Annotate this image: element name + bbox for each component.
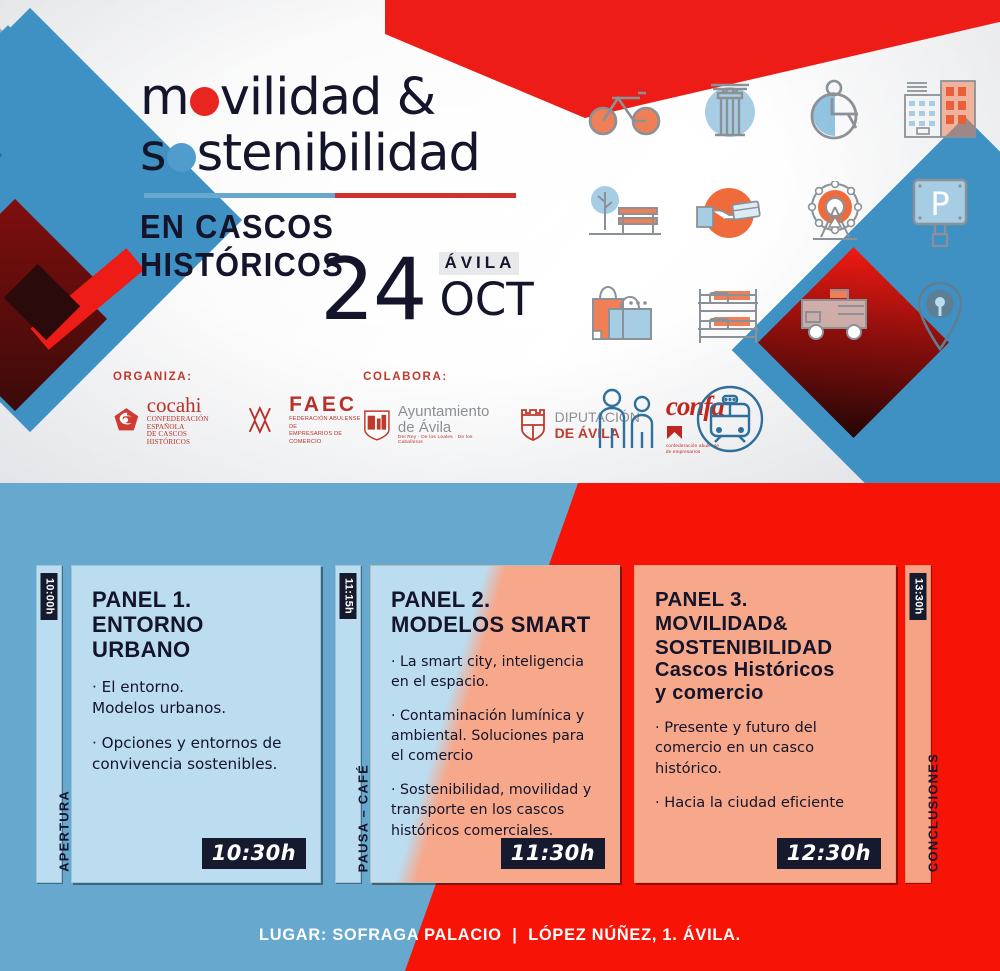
faec-name: FAEC — [289, 394, 363, 416]
panel-3-end-time: 12:30h — [777, 838, 881, 869]
panel-1[interactable]: PANEL 1. ENTORNO URBANO · El entorno. Mo… — [71, 565, 321, 883]
date-right-block: ÁVILA OCT — [439, 252, 533, 322]
wheelchair-accessibility-icon — [804, 78, 866, 142]
bicycle-icon — [588, 79, 662, 141]
panel-3-bullet-2: · Hacia la ciudad eficiente — [655, 793, 875, 814]
panel-1-title-line-2: ENTORNO — [92, 613, 300, 638]
rule-red-segment — [335, 193, 516, 198]
logo-faec: FAEC FEDERACIÓN ABULENSE DE EMPRESARIOS … — [248, 394, 363, 446]
panel-3-title-line-5: y comercio — [655, 682, 875, 705]
panel-2-bullet-2: · Contaminación lumínica y ambiental. So… — [391, 706, 599, 767]
faec-text: FAEC FEDERACIÓN ABULENSE DE EMPRESARIOS … — [289, 394, 363, 446]
date-city: ÁVILA — [439, 252, 519, 275]
panel-1-bullet-2: · Opciones y entornos de convivencia sos… — [92, 733, 300, 776]
location-pin-icon — [913, 280, 967, 352]
delivery-van-icon — [796, 286, 874, 346]
slot-apertura-time: 10:00h — [41, 573, 58, 620]
poster-footer: LUGAR: SOFRAGA PALACIO | LÓPEZ NÚÑEZ, 1.… — [0, 899, 1000, 971]
panel-3-title-line-3: SOSTENIBILIDAD — [655, 636, 875, 660]
cocahi-text: cocahi CONFEDERACIÓN ESPAÑOLA DE CASCOS … — [147, 394, 222, 446]
panel-3-title: PANEL 3. MOVILIDAD& SOSTENIBILIDAD Casco… — [655, 588, 875, 706]
title-line-1: mvilidad & — [140, 72, 540, 123]
blue-dot-o-icon — [167, 143, 196, 172]
logo-cocahi: cocahi CONFEDERACIÓN ESPAÑOLA DE CASCOS … — [113, 394, 222, 446]
ayuntamiento-sub1: Del Rey · De los Leales · De los Caballe… — [398, 435, 492, 445]
cocahi-sub2: DE CASCOS HISTÓRICOS — [147, 431, 222, 446]
panel-3-title-line-2: MOVILIDAD& — [655, 612, 875, 636]
buildings-icon — [901, 79, 979, 141]
faec-mark-icon — [248, 404, 282, 436]
poster-root: mvilidad & sstenibilidad EN CASCOS HISTÓ… — [0, 0, 1000, 971]
panel-2-title-line-2: MODELOS SMART — [391, 613, 599, 638]
panel-2-bullet-1: · La smart city, inteligencia en el espa… — [391, 652, 599, 693]
ayuntamiento-shield-icon — [363, 408, 391, 442]
date-day: 24 — [320, 255, 425, 326]
red-dot-o-icon — [190, 87, 219, 116]
cocahi-mark-icon — [113, 403, 140, 437]
shopping-bags-icon — [587, 283, 663, 349]
slot-conclusiones: 13:30h CONCLUSIONES — [905, 565, 931, 883]
ayuntamiento-text: Ayuntamiento de Ávila Del Rey · De los L… — [398, 404, 492, 446]
panel-1-title-line-3: URBANO — [92, 638, 300, 663]
panel-1-end-time: 10:30h — [202, 838, 306, 869]
panel-1-title: PANEL 1. ENTORNO URBANO — [92, 588, 300, 663]
panel-1-bullets: · El entorno. Modelos urbanos. · Opcione… — [92, 677, 300, 776]
diputacion-shield-icon — [518, 407, 548, 443]
title-line-2: sstenibilidad — [140, 128, 540, 179]
rule-blue-segment — [144, 193, 335, 198]
slot-apertura: 10:00h APERTURA — [36, 565, 62, 883]
panel-2-title: PANEL 2. MODELOS SMART — [391, 588, 599, 638]
column-monument-icon — [697, 77, 763, 143]
faec-sub2: EMPRESARIOS DE COMERCIO — [289, 431, 363, 446]
title-line-2-post: stenibilidad — [197, 124, 480, 183]
slot-pausa-time: 11:15h — [340, 573, 357, 619]
storage-shelf-icon — [694, 285, 766, 347]
title-line-1-pre: m — [140, 68, 189, 127]
title-divider-rule — [144, 193, 516, 198]
organiza-label: ORGANIZA: — [113, 371, 363, 383]
cocahi-sub1: CONFEDERACIÓN ESPAÑOLA — [147, 416, 222, 431]
poster-header: mvilidad & sstenibilidad EN CASCOS HISTÓ… — [0, 0, 1000, 483]
panel-3[interactable]: PANEL 3. MOVILIDAD& SOSTENIBILIDAD Casco… — [634, 565, 896, 883]
title-line-1-post: vilidad & — [220, 68, 436, 127]
people-group-icon — [586, 386, 664, 452]
organiza-column: ORGANIZA: cocahi CONFEDERACIÓN ESPAÑOLA — [113, 371, 363, 455]
hand-card-payment-icon — [695, 181, 765, 245]
logo-ayuntamiento: Ayuntamiento de Ávila Del Rey · De los L… — [363, 404, 491, 446]
svg-text:P: P — [930, 185, 949, 223]
panel-3-bullet-1: · Presente y futuro del comercio en un c… — [655, 718, 875, 780]
event-date: 24 ÁVILA OCT — [320, 252, 534, 326]
panel-1-bullet-1: · El entorno. Modelos urbanos. — [92, 677, 300, 720]
slot-conclusiones-time-badge: 13:30h — [910, 573, 927, 620]
poster-lower: 10:00h APERTURA PANEL 1. ENTORNO URBANO … — [0, 483, 1000, 971]
panel-3-title-line-4: Cascos Históricos — [655, 659, 875, 682]
panel-2[interactable]: PANEL 2. MODELOS SMART · La smart city, … — [370, 565, 620, 883]
icon-grid: P — [572, 58, 992, 470]
title-line-2-pre: s — [140, 124, 166, 183]
slot-pausa-label: PAUSA – CAFÉ — [356, 764, 371, 872]
parking-sign-icon: P — [911, 177, 969, 249]
slot-apertura-time-badge: 10:00h — [41, 573, 58, 620]
venue-text: LUGAR: SOFRAGA PALACIO | LÓPEZ NÚÑEZ, 1.… — [259, 925, 741, 945]
ayuntamiento-name: Ayuntamiento — [398, 404, 492, 420]
tram-train-icon — [695, 384, 765, 454]
panel-1-title-line-1: PANEL 1. — [92, 588, 300, 613]
slot-pausa-cafe: 11:15h PAUSA – CAFÉ — [335, 565, 361, 883]
slot-apertura-label: APERTURA — [57, 790, 72, 872]
faec-sub1: FEDERACIÓN ABULENSE DE — [289, 416, 363, 431]
organiza-logos: cocahi CONFEDERACIÓN ESPAÑOLA DE CASCOS … — [113, 394, 363, 446]
panel-2-title-line-1: PANEL 2. — [391, 588, 599, 613]
tree-bench-park-icon — [587, 182, 663, 244]
panel-3-bullets: · Presente y futuro del comercio en un c… — [655, 718, 875, 814]
panel-2-bullets: · La smart city, inteligencia en el espa… — [391, 652, 599, 842]
ferris-wheel-icon — [799, 181, 871, 245]
slot-conclusiones-time: 13:30h — [910, 573, 927, 620]
panel-3-title-line-1: PANEL 3. — [655, 588, 875, 612]
panel-2-bullet-3: · Sostenibilidad, movilidad y transporte… — [391, 780, 599, 841]
slot-pausa-time-badge: 11:15h — [340, 573, 357, 619]
date-month: OCT — [439, 277, 533, 322]
slot-conclusiones-label: CONCLUSIONES — [926, 753, 941, 872]
cocahi-name: cocahi — [147, 394, 222, 416]
panel-2-end-time: 11:30h — [501, 838, 605, 869]
ayuntamiento-name2: de Ávila — [398, 420, 492, 436]
schedule-strip: 10:00h APERTURA PANEL 1. ENTORNO URBANO … — [0, 483, 1000, 971]
